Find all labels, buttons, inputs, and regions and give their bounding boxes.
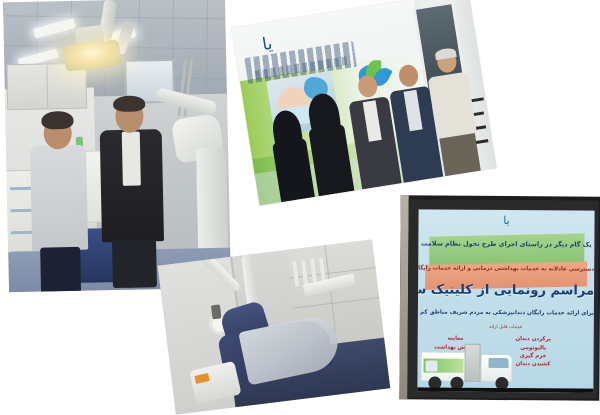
person-in-dark-suit	[99, 95, 167, 286]
mobile-clinic-truck-illustration	[420, 343, 512, 390]
photo-ceremony-banner[interactable]: یا یک گام دیگر در راستای اجرای طرح تحول …	[399, 195, 600, 400]
banner-line-health-reform: یک گام دیگر در راستای اجرای طرح تحول نظا…	[418, 239, 594, 248]
banner-subtitle: برای ارائه خدمات رایگان دندانپزشکی به مر…	[418, 310, 594, 317]
photo-group-banner[interactable]: یا	[231, 0, 496, 206]
service-item: معاینه	[418, 336, 494, 343]
truck-lift	[464, 344, 480, 382]
banner-line-equitable-access: دسترسی عادلانه به خدمات بهداشتی درمانی و…	[418, 266, 594, 273]
photo-clinic-room[interactable]	[3, 0, 231, 292]
dental-unit-post	[196, 148, 228, 259]
iran-emblem-icon: یا	[503, 214, 510, 227]
service-item: پرکردن دندان	[495, 336, 571, 343]
banner-services-header: خدمات قابل ارائه	[418, 324, 594, 330]
person-in-light-shirt	[29, 111, 91, 287]
screen-bottom-bar	[417, 387, 593, 392]
photo-dental-chair[interactable]	[158, 239, 391, 414]
projected-banner: یا یک گام دیگر در راستای اجرای طرح تحول …	[417, 209, 594, 392]
banner-title: مراسم رونمایی از کلینیک سیار دندانپزشکی	[418, 282, 594, 298]
screen-frame: یا یک گام دیگر در راستای اجرای طرح تحول …	[407, 199, 598, 398]
ceiling-light	[33, 18, 76, 39]
photo-collage: یا	[0, 0, 600, 400]
